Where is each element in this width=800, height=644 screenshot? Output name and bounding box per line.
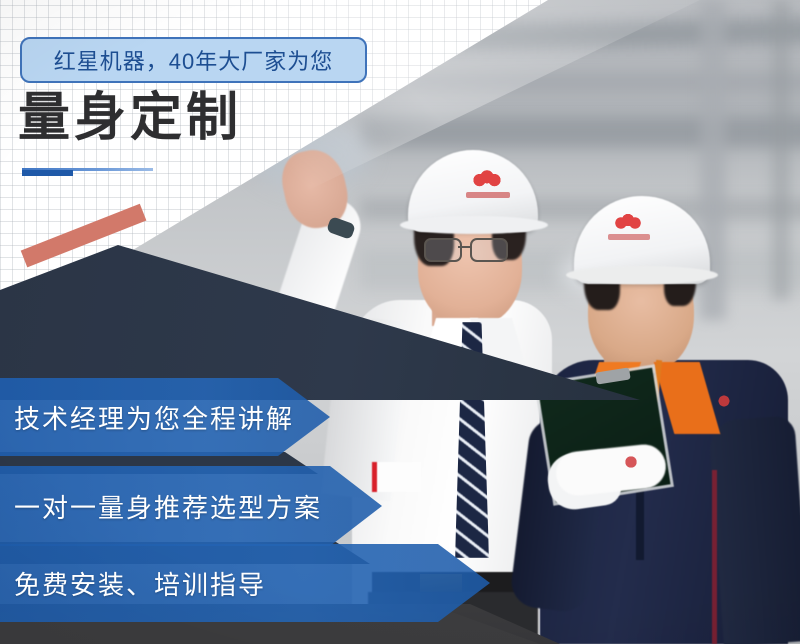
- hardhat-brim: [400, 216, 548, 234]
- uniform-emblem-icon: [714, 392, 734, 410]
- tagline-badge-label: 红星机器，40年大厂家为您: [54, 44, 333, 76]
- feature-banner-3: 免费安装、培训指导: [0, 544, 490, 622]
- ceiling-beam: [360, 74, 800, 90]
- feature-banner-2: 一对一量身推荐选型方案: [0, 466, 382, 546]
- hardhat-brim: [566, 266, 718, 284]
- title-underline-thick: [22, 170, 73, 176]
- support-pillar: [772, 0, 790, 300]
- worker-right-arm: [708, 415, 800, 644]
- feature-banner-1-label: 技术经理为您全程讲解: [0, 399, 294, 436]
- eyeglasses-bridge: [458, 246, 470, 248]
- promo-banner: 红星机器，40年大厂家为您 量身定制 技术经理为您全程讲解 一对一量身推荐选型方…: [0, 0, 800, 644]
- page-title: 量身定制: [18, 92, 242, 144]
- feature-banner-3-label: 免费安装、培训指导: [0, 565, 266, 602]
- hardhat-logo-icon: [612, 212, 644, 232]
- feature-banner-2-label: 一对一量身推荐选型方案: [0, 488, 322, 525]
- eyeglasses-right-lens: [470, 238, 508, 262]
- hardhat-logo-text: [608, 234, 650, 240]
- uniform-red-stripe: [712, 470, 717, 644]
- hardhat-logo-icon: [470, 168, 504, 190]
- feature-banner-1: 技术经理为您全程讲解: [0, 378, 330, 456]
- hardhat-logo-text: [466, 192, 510, 198]
- glove-logo-icon: [620, 452, 642, 472]
- eyeglasses-left-lens: [424, 238, 462, 262]
- tagline-badge: 红星机器，40年大厂家为您: [20, 37, 367, 83]
- ceiling-beam: [360, 118, 800, 148]
